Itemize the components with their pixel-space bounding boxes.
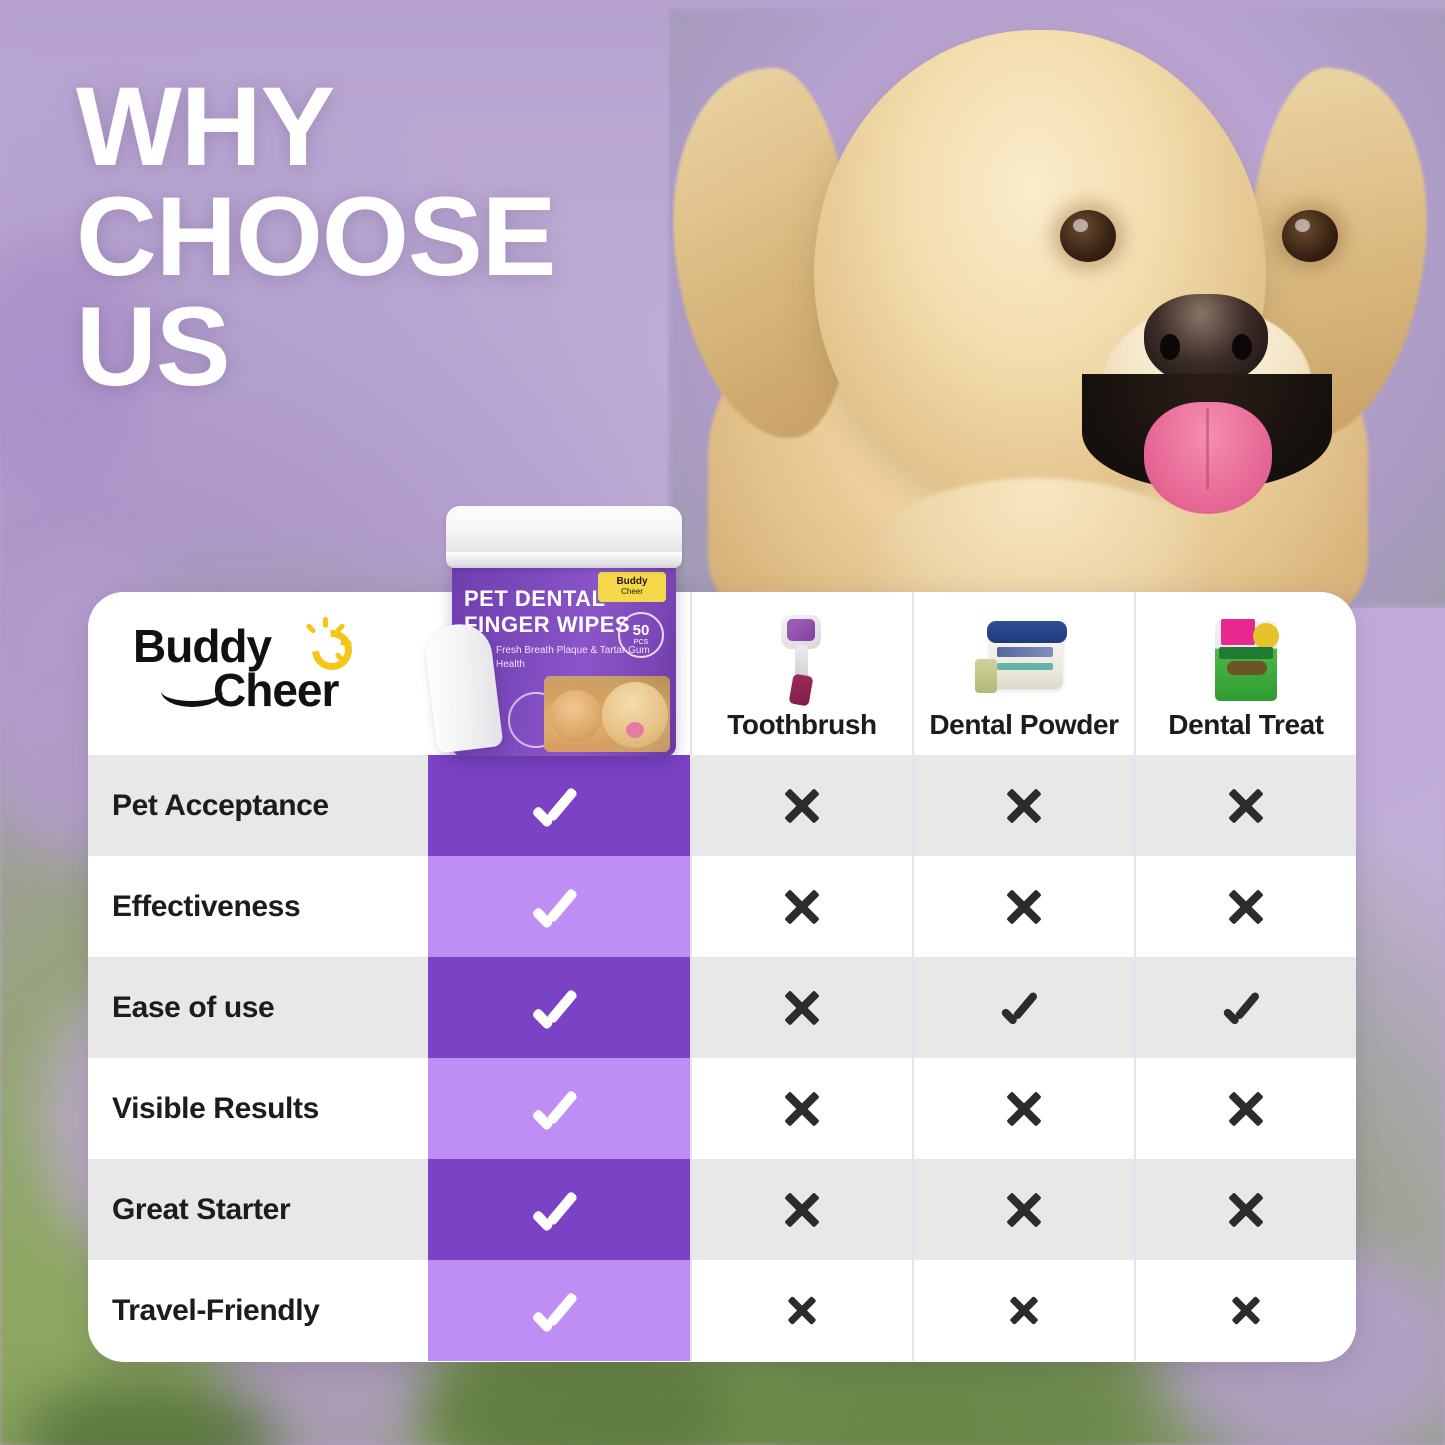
check-icon [1001, 995, 1047, 1021]
cell-ours [428, 1058, 690, 1159]
dental-treat-icon [1191, 613, 1301, 705]
dog-eye-right [1282, 210, 1338, 262]
header-cell-dental-treat: Dental Treat [1134, 592, 1356, 755]
cell-toothbrush [690, 856, 912, 957]
cell-ours [428, 1159, 690, 1260]
x-icon [1003, 1088, 1045, 1130]
x-icon [1003, 1189, 1045, 1231]
check-icon [533, 993, 585, 1023]
cell-dental-powder [912, 1159, 1134, 1260]
header-label-dental-treat: Dental Treat [1168, 709, 1323, 741]
x-icon [1225, 886, 1267, 928]
x-icon [781, 987, 823, 1029]
jar-title-line-2: FINGER WIPES [464, 612, 630, 638]
check-icon [533, 1195, 585, 1225]
cell-ours [428, 755, 690, 856]
check-icon [1223, 995, 1269, 1021]
cell-dental-powder [912, 1058, 1134, 1159]
cell-toothbrush [690, 1058, 912, 1159]
dog-head [814, 30, 1266, 498]
cell-dental-powder [912, 755, 1134, 856]
feature-label: Effectiveness [88, 856, 428, 957]
x-icon [1229, 1294, 1263, 1328]
cell-toothbrush [690, 755, 912, 856]
x-icon [785, 1294, 819, 1328]
x-icon [1007, 1294, 1041, 1328]
brand-logo-cell: Buddy Cheer [88, 592, 428, 755]
x-icon [1225, 1088, 1267, 1130]
header-cell-toothbrush: Toothbrush [690, 592, 912, 755]
check-icon [533, 1094, 585, 1124]
x-icon [1225, 785, 1267, 827]
sun-icon [299, 617, 351, 669]
jar-badge-word1: Buddy [616, 577, 647, 587]
jar-lid [446, 506, 682, 568]
comparison-table: Buddy Cheer Toothbrush [88, 592, 1356, 1362]
page-title-line-3: US [76, 292, 696, 402]
dog-eye-left [1060, 210, 1116, 262]
cell-ours [428, 957, 690, 1058]
check-icon [533, 1296, 585, 1326]
check-icon [533, 892, 585, 922]
cell-dental-treat [1134, 957, 1356, 1058]
jar-pet-photo [544, 676, 670, 752]
cell-toothbrush [690, 1260, 912, 1361]
cell-toothbrush [690, 957, 912, 1058]
page-title-line-1: WHY [76, 72, 696, 182]
x-icon [781, 1088, 823, 1130]
feature-label: Pet Acceptance [88, 755, 428, 856]
brand-word-cheer: Cheer [213, 663, 338, 717]
cell-ours [428, 1260, 690, 1361]
dog-nose [1144, 294, 1268, 386]
jar-title-line-1: PET DENTAL [464, 586, 605, 612]
page-title-line-2: CHOOSE [76, 182, 696, 292]
x-icon [781, 886, 823, 928]
feature-label: Great Starter [88, 1159, 428, 1260]
feature-label: Travel-Friendly [88, 1260, 428, 1361]
dental-powder-icon [969, 613, 1079, 705]
x-icon [781, 1189, 823, 1231]
page-title: WHY CHOOSE US [76, 72, 696, 401]
jar-brand-badge: Buddy Cheer [598, 572, 666, 602]
header-label-toothbrush: Toothbrush [727, 709, 876, 741]
cell-dental-treat [1134, 755, 1356, 856]
header-cell-dental-powder: Dental Powder [912, 592, 1134, 755]
feature-label: Visible Results [88, 1058, 428, 1159]
cell-dental-powder [912, 856, 1134, 957]
cell-dental-powder [912, 957, 1134, 1058]
cell-dental-treat [1134, 1260, 1356, 1361]
jar-count-unit: PCS [634, 638, 648, 647]
cell-dental-treat [1134, 856, 1356, 957]
cell-dental-powder [912, 1260, 1134, 1361]
jar-count-badge: 50 PCS [618, 612, 664, 658]
product-jar-image: PET DENTAL FINGER WIPES Fresh Breath Pla… [438, 506, 690, 756]
x-icon [781, 785, 823, 827]
dog-tongue [1144, 402, 1272, 514]
cell-toothbrush [690, 1159, 912, 1260]
brand-logo: Buddy Cheer [133, 619, 383, 715]
x-icon [1003, 886, 1045, 928]
jar-badge-word2: Cheer [621, 587, 643, 597]
jar-count-value: 50 [633, 623, 650, 638]
toothbrush-icon [747, 613, 857, 705]
check-icon [533, 791, 585, 821]
cell-dental-treat [1134, 1159, 1356, 1260]
cell-dental-treat [1134, 1058, 1356, 1159]
golden-retriever-photo [668, 8, 1445, 608]
comparison-grid: Buddy Cheer Toothbrush [88, 592, 1356, 1361]
feature-label: Ease of use [88, 957, 428, 1058]
dog-face [602, 682, 668, 748]
x-icon [1003, 785, 1045, 827]
x-icon [1225, 1189, 1267, 1231]
header-label-dental-powder: Dental Powder [929, 709, 1118, 741]
cell-ours [428, 856, 690, 957]
cat-face [550, 690, 602, 742]
